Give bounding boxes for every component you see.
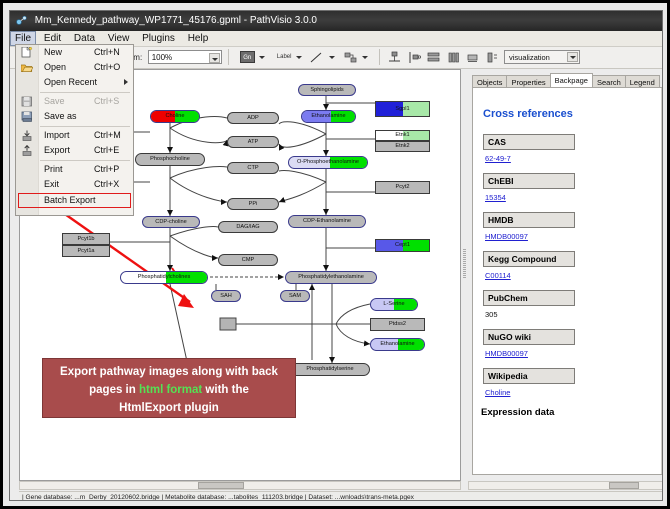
pathway-node-etnk1[interactable]: Etnk1 [375, 130, 430, 141]
zoom-combo[interactable]: 100% [148, 50, 222, 64]
node-label: Ethanolamine [371, 339, 424, 350]
panel-hscrollbar[interactable] [468, 481, 663, 490]
line-icon[interactable] [309, 50, 324, 65]
backpage-content: Cross references CAS62-49-7ChEBI15354HMD… [472, 87, 663, 475]
node-label: Pcyt2 [376, 182, 429, 193]
node-label: CDP-choline [143, 217, 199, 227]
menu-item-save-as[interactable]: Save as [16, 109, 133, 124]
menu-item-shortcut: Ctrl+X [94, 177, 119, 192]
tab-backpage[interactable]: Backpage [550, 73, 593, 88]
pathway-node-cdpcholine[interactable]: CDP-choline [142, 216, 200, 228]
import-icon [21, 130, 33, 141]
callout-line-2-a: pages in [89, 384, 139, 396]
pathway-node-ppi[interactable]: PPi [227, 198, 279, 210]
canvas-hscrollbar[interactable] [19, 481, 461, 490]
label-dropdown-icon[interactable] [295, 50, 304, 65]
menu-item-shortcut: Ctrl+O [94, 60, 120, 75]
pathway-node-atp[interactable]: ATP [227, 136, 279, 148]
pathway-node-sphingolipids[interactable]: Sphingolipids [298, 84, 356, 96]
status-bar: | Gene database: ...m_Derby_20120602.bri… [19, 491, 663, 501]
menu-item-print[interactable]: PrintCtrl+P [16, 162, 133, 177]
xref-label-hmdb: HMDB [483, 212, 575, 228]
node-label: CTP [228, 163, 278, 173]
menu-item-export[interactable]: ExportCtrl+E [16, 143, 133, 158]
pathway-node-pcyt1a[interactable]: Pcyt1a [62, 245, 110, 257]
pathway-node-cdpeth[interactable]: CDP-Ethanolamine [288, 215, 366, 228]
xref-label-nugo-wiki: NuGO wiki [483, 329, 575, 345]
pathway-node-lserine[interactable]: L-Serine [370, 298, 418, 311]
anchor-dropdown-icon[interactable] [361, 50, 370, 65]
align-left-icon[interactable] [407, 50, 422, 65]
order-icon[interactable] [485, 50, 500, 65]
menu-item-label: Print [44, 162, 63, 177]
menu-item-new[interactable]: NewCtrl+N [16, 45, 133, 60]
pathway-node-cmp[interactable]: CMP [218, 254, 278, 266]
pathway-node-choline[interactable]: Choline [150, 110, 200, 123]
xref-link[interactable]: 15354 [485, 193, 506, 202]
xref-value-pubchem: 305 [485, 310, 659, 319]
visualization-combo[interactable]: visualization [504, 50, 580, 64]
canvas-hscroll-thumb[interactable] [198, 482, 244, 489]
node-label: Pcyt1a [63, 246, 109, 256]
node-label: CMP [219, 255, 277, 265]
folder-open-icon [21, 62, 33, 73]
pathway-node-cept1[interactable]: Cept1 [375, 239, 430, 252]
visualization-value: visualization [509, 53, 550, 62]
node-label: L-Serine [371, 299, 417, 310]
menu-item-label: Open [44, 60, 66, 75]
node-label: Pcyt1b [63, 234, 109, 244]
callout-line-2: pages in html format with the [43, 381, 295, 399]
xref-link[interactable]: HMDB00097 [485, 349, 528, 358]
pathway-node-adp[interactable]: ADP [227, 112, 279, 124]
pathway-node-pcyt1b[interactable]: Pcyt1b [62, 233, 110, 245]
menu-item-shortcut: Ctrl+S [94, 94, 119, 109]
menu-help[interactable]: Help [183, 31, 214, 46]
gene-product-icon[interactable]: Gn [240, 51, 255, 63]
node-label: ADP [228, 113, 278, 123]
pathway-node-sah[interactable]: SAH [211, 290, 241, 302]
pathvisio-icon [15, 14, 28, 27]
menu-plugins[interactable]: Plugins [137, 31, 180, 46]
menu-item-label: Save [44, 94, 65, 109]
callout-line-2-b: with the [202, 384, 249, 396]
menu-item-label: Exit [44, 177, 59, 192]
side-panel-tabs: ObjectsPropertiesBackpageSearchLegend [472, 73, 663, 88]
pathway-node-ptdss2[interactable]: Ptdss2 [370, 318, 425, 331]
pathway-node-ethanolamine1[interactable]: Ethanolamine [301, 110, 356, 123]
new-file-icon [21, 47, 33, 58]
node-label: Ethanolamine [302, 111, 355, 122]
xref-label-chebi: ChEBI [483, 173, 575, 189]
pathvisio-window: Mm_Kennedy_pathway_WP1771_45176.gpml - P… [9, 10, 663, 501]
submenu-arrow-icon [124, 79, 128, 85]
zoom-value: 100% [152, 53, 172, 62]
menu-item-shortcut: Ctrl+N [94, 45, 120, 60]
pathway-node-ctp[interactable]: CTP [227, 162, 279, 174]
file-menu-rows: NewCtrl+NOpenCtrl+OOpen RecentSaveCtrl+S… [16, 45, 133, 192]
node-label: Choline [151, 111, 199, 122]
node-label: PPi [228, 199, 278, 209]
node-label: CDP-Ethanolamine [289, 216, 365, 227]
node-label: SAH [212, 291, 240, 301]
xref-label-pubchem: PubChem [483, 290, 575, 306]
pathway-node-ethanolamine2[interactable]: Ethanolamine [370, 338, 425, 351]
export-icon [21, 145, 33, 156]
panel-hscroll-thumb[interactable] [609, 482, 639, 489]
xref-link[interactable]: C00114 [485, 271, 511, 280]
node-label: Etnk1 [376, 131, 429, 140]
cross-reference-list: CAS62-49-7ChEBI15354HMDBHMDB00097Kegg Co… [479, 134, 659, 397]
annotation-callout: Export pathway images along with back pa… [42, 358, 296, 418]
menu-item-import[interactable]: ImportCtrl+M [16, 128, 133, 143]
screenshot-frame: Mm_Kennedy_pathway_WP1771_45176.gpml - P… [0, 0, 670, 509]
node-label: Sphingolipids [299, 85, 355, 95]
xref-value-kegg-compound[interactable]: C00114 [485, 271, 659, 280]
distribute-icon[interactable] [446, 50, 461, 65]
node-label: O-Phosphoethanolamine [289, 157, 367, 168]
stack-icon[interactable] [426, 50, 441, 65]
node-label: Phosphatidylserine [291, 364, 369, 375]
menu-item-label: Save as [44, 109, 77, 124]
xref-link[interactable]: Choline [485, 388, 510, 397]
pathway-node-ophosphoeth[interactable]: O-Phosphoethanolamine [288, 156, 368, 169]
side-panel: ObjectsPropertiesBackpageSearchLegend Cr… [468, 69, 663, 481]
node-label: DAG/IAG [219, 222, 277, 232]
xref-link[interactable]: 62-49-7 [485, 154, 511, 163]
pathway-node-sgpl1[interactable]: Sgpl1 [375, 101, 430, 117]
callout-line-1: Export pathway images along with back [43, 363, 295, 381]
save-icon [21, 96, 33, 107]
callout-line-3: HtmlExport plugin [43, 399, 295, 417]
chevron-down-icon-viz[interactable] [567, 52, 578, 62]
pathway-node-pcyt2[interactable]: Pcyt2 [375, 181, 430, 194]
node-label: Sgpl1 [376, 102, 429, 116]
pathway-node-etnk2[interactable]: Etnk2 [375, 141, 430, 152]
pathway-node-ptdserine[interactable]: Phosphatidylserine [290, 363, 370, 376]
menu-item-shortcut: Ctrl+P [94, 162, 119, 177]
pathway-node-dagiag[interactable]: DAG/IAG [218, 221, 278, 233]
xref-value-chebi[interactable]: 15354 [485, 193, 659, 202]
menu-item-label: Import [44, 128, 70, 143]
menu-item-open-recent[interactable]: Open Recent [16, 75, 133, 90]
xref-label-kegg-compound: Kegg Compound [483, 251, 575, 267]
node-label: SAM [281, 291, 309, 301]
xref-value-hmdb[interactable]: HMDB00097 [485, 232, 659, 241]
anchor-icon[interactable] [343, 50, 358, 65]
gene-dropdown-icon[interactable] [258, 50, 267, 65]
panel-scrollbar[interactable] [661, 88, 663, 474]
xref-value-cas[interactable]: 62-49-7 [485, 154, 659, 163]
menu-item-batch-export[interactable]: Batch Export [16, 193, 133, 208]
pathway-node-ptdeth[interactable]: Phosphatidylethanolamine [285, 271, 377, 284]
menu-item-shortcut: Ctrl+M [94, 128, 121, 143]
menu-item-label: New [44, 45, 62, 60]
node-label: Phosphatidylcholines [121, 272, 207, 283]
cross-references-heading: Cross references [483, 108, 659, 120]
menu-item-shortcut: Ctrl+E [94, 143, 119, 158]
xref-label-cas: CAS [483, 134, 575, 150]
menu-item-open[interactable]: OpenCtrl+O [16, 60, 133, 75]
node-label: Phosphocholine [136, 154, 204, 165]
chevron-down-icon[interactable] [209, 53, 220, 63]
label-button[interactable]: Label [277, 54, 292, 60]
menu-item-exit[interactable]: ExitCtrl+X [16, 177, 133, 192]
group-icon[interactable] [465, 50, 480, 65]
node-label: Cept1 [376, 240, 429, 251]
xref-value-wikipedia[interactable]: Choline [485, 388, 659, 397]
splitter-grip [463, 249, 466, 279]
file-menu-dropdown[interactable]: NewCtrl+NOpenCtrl+OOpen RecentSaveCtrl+S… [15, 44, 134, 216]
pathway-node-ptdcholines[interactable]: Phosphatidylcholines [120, 271, 208, 284]
node-label: Phosphatidylethanolamine [286, 272, 376, 283]
window-title: Mm_Kennedy_pathway_WP1771_45176.gpml - P… [35, 11, 317, 31]
node-label: Ptdss2 [371, 319, 424, 330]
node-label: Etnk2 [376, 142, 429, 151]
pathway-node-phosphocholine[interactable]: Phosphocholine [135, 153, 205, 166]
xref-label-wikipedia: Wikipedia [483, 368, 575, 384]
callout-highlight: html format [139, 384, 202, 396]
toolbar-separator [228, 49, 229, 65]
line-dropdown-icon[interactable] [328, 50, 337, 65]
menu-item-label: Export [44, 143, 70, 158]
xref-link[interactable]: HMDB00097 [485, 232, 528, 241]
menu-item-save: SaveCtrl+S [16, 94, 133, 109]
expression-data-heading: Expression data [481, 407, 659, 418]
xref-value-nugo-wiki[interactable]: HMDB00097 [485, 349, 659, 358]
pathway-node-sam[interactable]: SAM [280, 290, 310, 302]
title-bar: Mm_Kennedy_pathway_WP1771_45176.gpml - P… [10, 11, 662, 31]
toolbar-separator-2 [379, 49, 380, 65]
save-as-icon [21, 111, 33, 122]
align-top-icon[interactable] [387, 50, 402, 65]
batch-export-label: Batch Export [44, 193, 96, 208]
node-label: ATP [228, 137, 278, 147]
menu-item-label: Open Recent [44, 75, 97, 90]
